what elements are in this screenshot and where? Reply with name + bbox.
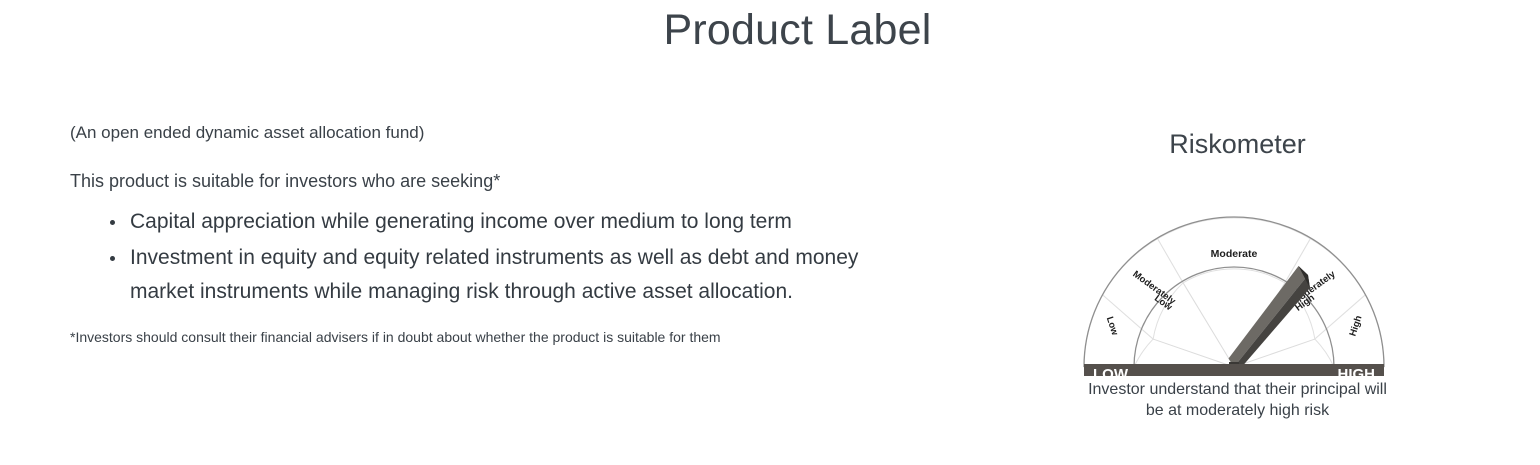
riskometer-gauge: Low Moderately Low Moderate Moderately H… (1060, 176, 1415, 376)
product-label-content: (An open ended dynamic asset allocation … (70, 120, 900, 348)
disclaimer-footnote: *Investors should consult their financia… (70, 327, 900, 348)
suitability-intro: This product is suitable for investors w… (70, 168, 900, 195)
gauge-label-moderate: Moderate (1211, 248, 1258, 260)
riskometer-caption: Investor understand that their principal… (1060, 380, 1415, 421)
gauge-scale-low-label: LOW (1093, 366, 1129, 376)
gauge-scale-high-label: HIGH (1338, 366, 1376, 376)
suitability-bullet-list: Capital appreciation while generating in… (70, 205, 900, 309)
page-title: Product Label (0, 6, 1540, 55)
fund-type-subtitle: (An open ended dynamic asset allocation … (70, 120, 900, 146)
list-item: Investment in equity and equity related … (110, 241, 900, 309)
riskometer-heading: Riskometer (1060, 128, 1415, 160)
riskometer-caption-line-3: high risk (1270, 402, 1330, 419)
riskometer-caption-line-1: Investor understand that their (1088, 381, 1296, 398)
riskometer-panel: Riskometer (1060, 128, 1415, 421)
riskometer-gauge-svg: Low Moderately Low Moderate Moderately H… (1060, 176, 1415, 376)
list-item: Capital appreciation while generating in… (110, 205, 900, 239)
